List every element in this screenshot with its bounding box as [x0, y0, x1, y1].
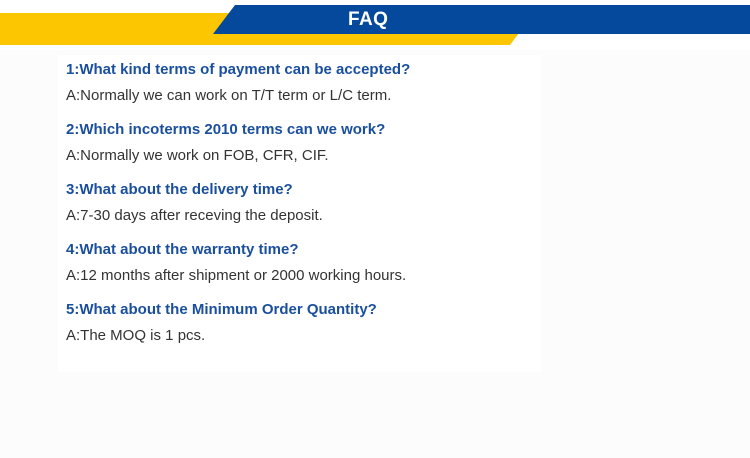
faq-question: 2:Which incoterms 2010 terms can we work…: [66, 121, 385, 138]
faq-answer: A:7-30 days after receving the deposit.: [66, 207, 323, 224]
faq-answer: A:12 months after shipment or 2000 worki…: [66, 267, 406, 284]
faq-question: 5:What about the Minimum Order Quantity?: [66, 301, 377, 318]
faq-item: 5:What about the Minimum Order Quantity?…: [66, 295, 666, 355]
faq-question: 1:What kind terms of payment can be acce…: [66, 61, 410, 78]
faq-answer: A:Normally we work on FOB, CFR, CIF.: [66, 147, 329, 164]
faq-header-banner: FAQ: [0, 0, 750, 50]
faq-question: 3:What about the delivery time?: [66, 181, 293, 198]
faq-item: 3:What about the delivery time? A:7-30 d…: [66, 175, 666, 235]
faq-list: 1:What kind terms of payment can be acce…: [66, 55, 666, 355]
faq-item: 2:Which incoterms 2010 terms can we work…: [66, 115, 666, 175]
faq-answer: A:Normally we can work on T/T term or L/…: [66, 87, 391, 104]
faq-item: 4:What about the warranty time? A:12 mon…: [66, 235, 666, 295]
faq-item: 1:What kind terms of payment can be acce…: [66, 55, 666, 115]
page-title: FAQ: [213, 5, 750, 34]
faq-answer: A:The MOQ is 1 pcs.: [66, 327, 205, 344]
faq-question: 4:What about the warranty time?: [66, 241, 299, 258]
